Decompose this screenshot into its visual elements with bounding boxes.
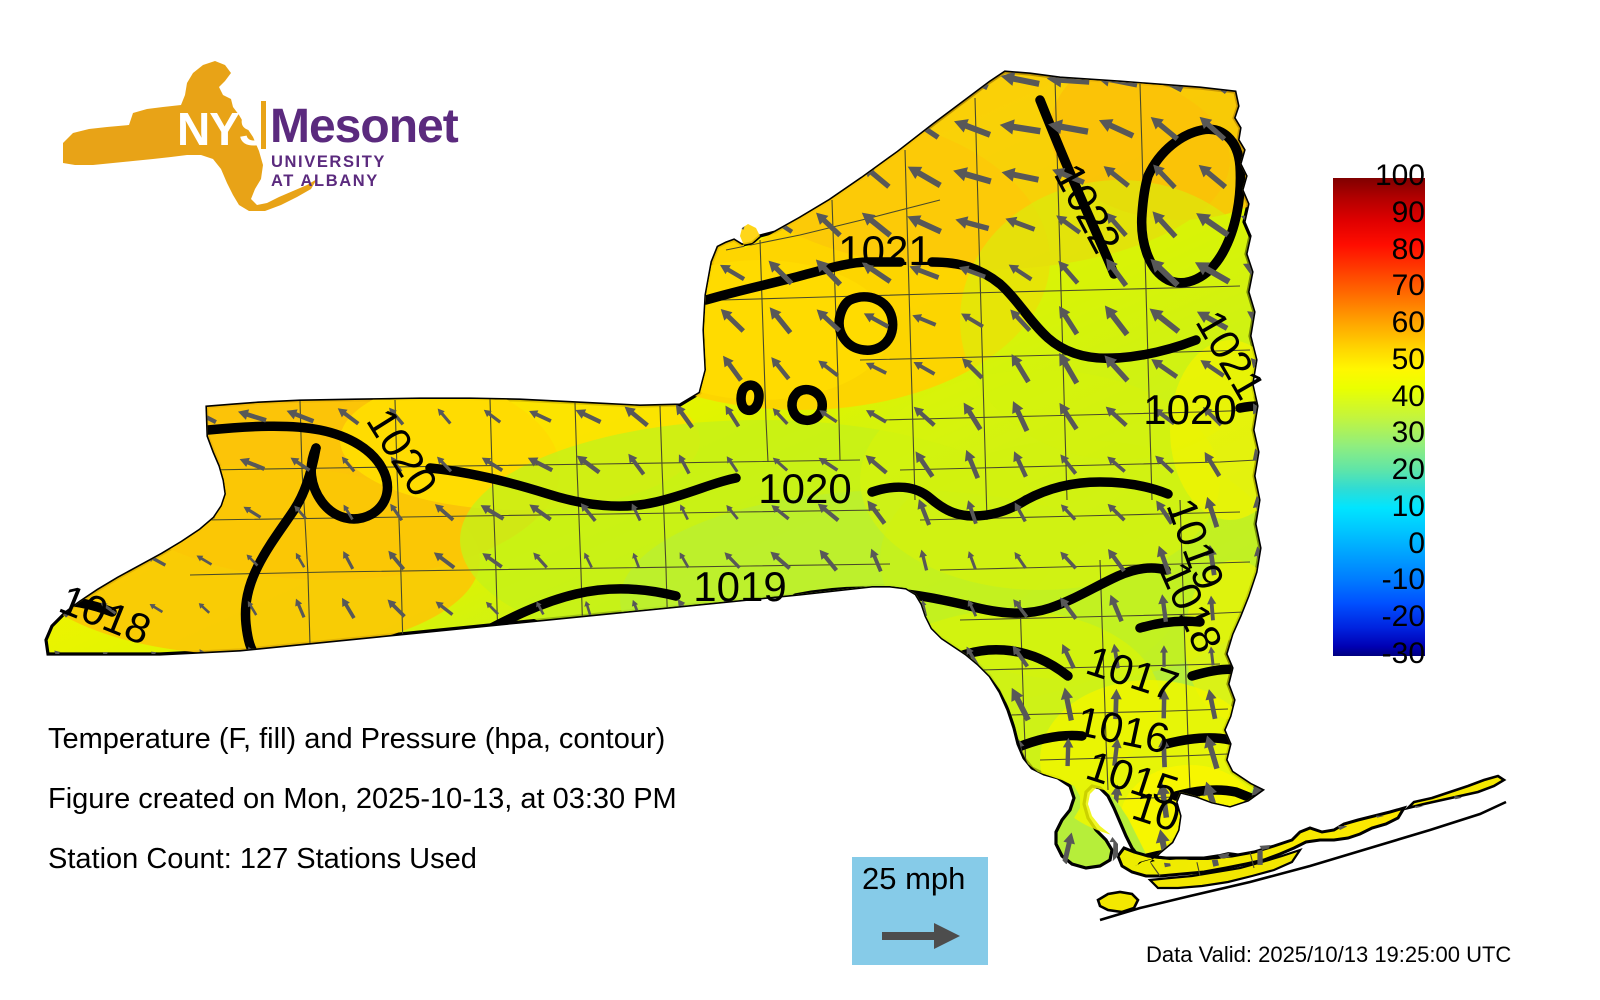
wind-arrow [823, 648, 832, 664]
wind-arrow [292, 644, 309, 668]
wind-arrow [97, 358, 120, 378]
wind-arrow [671, 217, 698, 230]
wind-arrow [574, 262, 602, 281]
wind-speed-legend: 25 mph [852, 857, 988, 965]
wind-arrow [51, 455, 70, 474]
wind-arrow [1253, 596, 1267, 619]
wind-arrow [676, 695, 693, 714]
caption-title: Temperature (F, fill) and Pressure (hpa,… [48, 723, 665, 756]
wind-arrow [332, 357, 365, 379]
wind-arrow [617, 164, 654, 188]
wind-arrow [916, 789, 931, 811]
wind-arrow [487, 697, 497, 712]
logo-mesonet-text: Mesonet [270, 99, 458, 154]
wind-arrow [583, 842, 594, 855]
wind-arrow [101, 697, 115, 710]
wind-arrow [916, 693, 931, 716]
wind-arrow [908, 67, 941, 94]
wind-arrow [238, 359, 267, 377]
wind-arrow [138, 214, 175, 234]
wind-arrow [245, 693, 259, 716]
wind-arrow [432, 356, 455, 380]
colorbar-tick-20: 20 [1325, 453, 1425, 487]
wind-arrow [870, 741, 882, 764]
caption-station-count: Station Count: 127 Stations Used [48, 843, 477, 876]
wind-arrow [1012, 833, 1028, 862]
wind-arrow [1253, 646, 1267, 667]
wind-arrow [522, 162, 558, 191]
logo-divider [261, 101, 266, 149]
wind-arrow [49, 547, 72, 573]
wind-arrow [146, 358, 167, 378]
colorbar-tick-90: 90 [1325, 196, 1425, 230]
wind-arrow [428, 215, 460, 233]
wind-arrow [616, 114, 656, 142]
wind-arrow [825, 743, 832, 760]
wind-arrow [871, 598, 881, 617]
wind-arrow [286, 313, 314, 328]
wind-arrow [621, 357, 651, 379]
wind-arrow [478, 122, 506, 134]
wind-arrow [581, 693, 594, 715]
wind-arrow [669, 309, 699, 331]
wind-arrow [715, 121, 750, 135]
wind-arrow [142, 501, 170, 523]
wind-arrow [340, 696, 355, 712]
wind-arrow [872, 695, 880, 712]
wind-arrow [529, 360, 551, 377]
wind-arrow [240, 311, 265, 328]
wind-arrow [727, 838, 736, 857]
wind-arrow [569, 161, 607, 192]
wind-arrow [380, 263, 412, 281]
wind-arrow [664, 118, 703, 139]
wind-arrow [335, 218, 361, 230]
wind-arrow [98, 406, 117, 425]
nys-mesonet-logo: NYS Mesonet UNIVERSITY AT ALBANY [55, 55, 415, 215]
wind-arrow [91, 217, 125, 231]
colorbar-tick-100: 100 [1325, 159, 1425, 193]
wind-arrow [669, 353, 699, 382]
wind-arrow [727, 746, 736, 758]
wind-arrow [334, 266, 362, 279]
wind-arrow [773, 646, 787, 665]
wind-arrow [44, 266, 77, 279]
wind-arrow [479, 307, 506, 333]
wind-arrow [97, 453, 119, 476]
wind-arrow [426, 72, 461, 89]
wind-arrow [438, 697, 450, 710]
wind-arrow [143, 309, 168, 331]
colorbar-tick-50: 50 [1325, 343, 1425, 377]
wind-arrow [870, 838, 883, 858]
wind-arrow [679, 794, 689, 807]
contour-label-1021: 1021 [838, 227, 931, 274]
wind-arrow [570, 114, 606, 142]
wind-arrow [776, 791, 784, 809]
wind-arrow [963, 784, 982, 815]
data-valid-stamp: Data Valid: 2025/10/13 19:25:00 UTC [1146, 942, 1511, 968]
wind-arrow [680, 840, 688, 855]
wind-arrow [571, 211, 605, 238]
colorbar-tick-0: 0 [1325, 527, 1425, 561]
wind-arrow [286, 215, 314, 233]
wind-arrow [572, 69, 605, 91]
wind-arrow [1246, 731, 1273, 772]
wind-arrow [149, 696, 164, 713]
contour-label-1019: 1019 [693, 563, 786, 610]
wind-arrow [54, 698, 67, 710]
wind-arrow [476, 166, 509, 186]
wind-arrow [193, 310, 216, 330]
wind-arrow [583, 647, 594, 666]
wind-arrow [50, 407, 71, 424]
wind-arrow [1015, 787, 1025, 814]
colorbar-tick-minus30: -30 [1325, 637, 1425, 671]
wind-arrow [628, 645, 644, 668]
wind-arrow [822, 837, 833, 859]
wind-arrow [674, 644, 695, 667]
wind-arrow [872, 648, 880, 663]
wind-arrow [535, 695, 544, 713]
wind-arrow [476, 72, 508, 87]
wind-arrow [766, 167, 795, 185]
wind-arrow [678, 745, 690, 759]
wind-arrow [623, 265, 648, 279]
wind-arrow [474, 210, 510, 238]
colorbar-tick-10: 10 [1325, 490, 1425, 524]
wind-arrow [722, 645, 742, 666]
wind-arrow [761, 72, 799, 87]
colorbar-tick-minus20: -20 [1325, 600, 1425, 634]
wind-arrow [382, 355, 411, 381]
wind-arrow [50, 500, 71, 523]
colorbar-tick-60: 60 [1325, 306, 1425, 340]
wind-arrow [775, 837, 785, 859]
wind-arrow [810, 71, 846, 88]
wind-arrow [389, 697, 402, 710]
wind-arrow [631, 841, 641, 854]
wind-arrow [719, 216, 746, 232]
wind-arrow [1242, 64, 1279, 95]
wind-arrow [236, 212, 267, 237]
wind-arrow [623, 312, 649, 327]
wind-arrow [525, 258, 556, 285]
wind-arrow [379, 308, 413, 333]
wind-arrow [338, 645, 358, 668]
wind-arrow [387, 647, 405, 665]
wind-arrow [1247, 686, 1273, 723]
wind-arrow [287, 265, 312, 279]
wind-arrow [91, 263, 126, 280]
wind-arrow [869, 788, 884, 812]
wind-arrow [139, 260, 172, 284]
caption-created: Figure created on Mon, 2025-10-13, at 03… [48, 783, 677, 816]
wind-arrow [44, 312, 77, 328]
wind-arrow [621, 215, 651, 233]
wind-arrow [488, 839, 496, 857]
wind-arrow [96, 549, 121, 572]
wind-arrow [522, 208, 558, 239]
wind-arrow [481, 358, 502, 378]
wind-arrow [777, 745, 784, 758]
wind-arrow [528, 310, 552, 330]
wind-arrow [486, 649, 498, 663]
colorbar-tick-70: 70 [1325, 269, 1425, 303]
wind-arrow [142, 452, 169, 476]
wind-arrow [825, 697, 832, 710]
logo-university-text: UNIVERSITY AT ALBANY [271, 153, 415, 191]
wind-arrow [382, 218, 409, 229]
wind-arrow [671, 264, 697, 279]
logo-nys-text: NYS [177, 102, 269, 156]
wind-arrow [1241, 113, 1278, 142]
wind-arrow [145, 405, 168, 426]
wind-arrow [919, 840, 930, 856]
wind-arrow [915, 740, 933, 765]
wind-arrow [190, 260, 218, 284]
wind-arrow [576, 312, 600, 327]
wind-arrow [535, 840, 545, 855]
colorbar-tick-80: 80 [1325, 233, 1425, 267]
colorbar-tick-minus10: -10 [1325, 563, 1425, 597]
wind-arrow [729, 793, 736, 807]
wind-arrow [430, 170, 457, 181]
wind-arrow [957, 685, 987, 723]
wind-arrow [93, 310, 123, 331]
wind-arrow [820, 597, 836, 620]
wind-arrow [959, 734, 986, 770]
contour-label-1020: 1020 [1143, 386, 1236, 433]
wind-arrow [813, 163, 843, 189]
wind-legend-arrow-icon [880, 919, 964, 953]
wind-arrow [618, 67, 655, 94]
wind-arrow [46, 359, 73, 377]
wind-arrow [535, 648, 545, 663]
wind-arrow [823, 789, 832, 811]
wind-arrow [426, 259, 461, 286]
wind-arrow [197, 693, 211, 714]
wind-arrow [284, 359, 316, 377]
wind-arrow [525, 73, 555, 86]
wind-arrow [239, 262, 264, 281]
wind-arrow [192, 358, 216, 378]
wind-arrow [575, 360, 601, 376]
wind-arrow [664, 68, 704, 92]
wind-arrow [668, 168, 701, 184]
wind-arrow [475, 257, 508, 288]
wind-arrow [292, 694, 307, 715]
wind-arrow [45, 218, 75, 230]
wind-arrow [429, 306, 460, 335]
wind-arrow [859, 68, 893, 92]
wind-arrow [860, 115, 891, 142]
colorbar-tick-30: 30 [1325, 416, 1425, 450]
wind-arrow [775, 697, 784, 711]
wind-arrow [332, 311, 364, 328]
wind-arrow [919, 647, 930, 665]
wind-arrow [524, 118, 557, 139]
wind-arrow [726, 696, 739, 712]
contour-label-1020: 1020 [758, 465, 851, 512]
wind-arrow [718, 169, 747, 182]
wind-legend-label: 25 mph [862, 861, 965, 897]
colorbar-tick-40: 40 [1325, 380, 1425, 414]
wind-arrow [437, 649, 452, 664]
wind-arrow [95, 499, 120, 525]
wind-arrow [627, 693, 645, 715]
wind-arrow [712, 72, 752, 88]
wind-arrow [812, 118, 843, 139]
wind-arrow [764, 121, 796, 136]
